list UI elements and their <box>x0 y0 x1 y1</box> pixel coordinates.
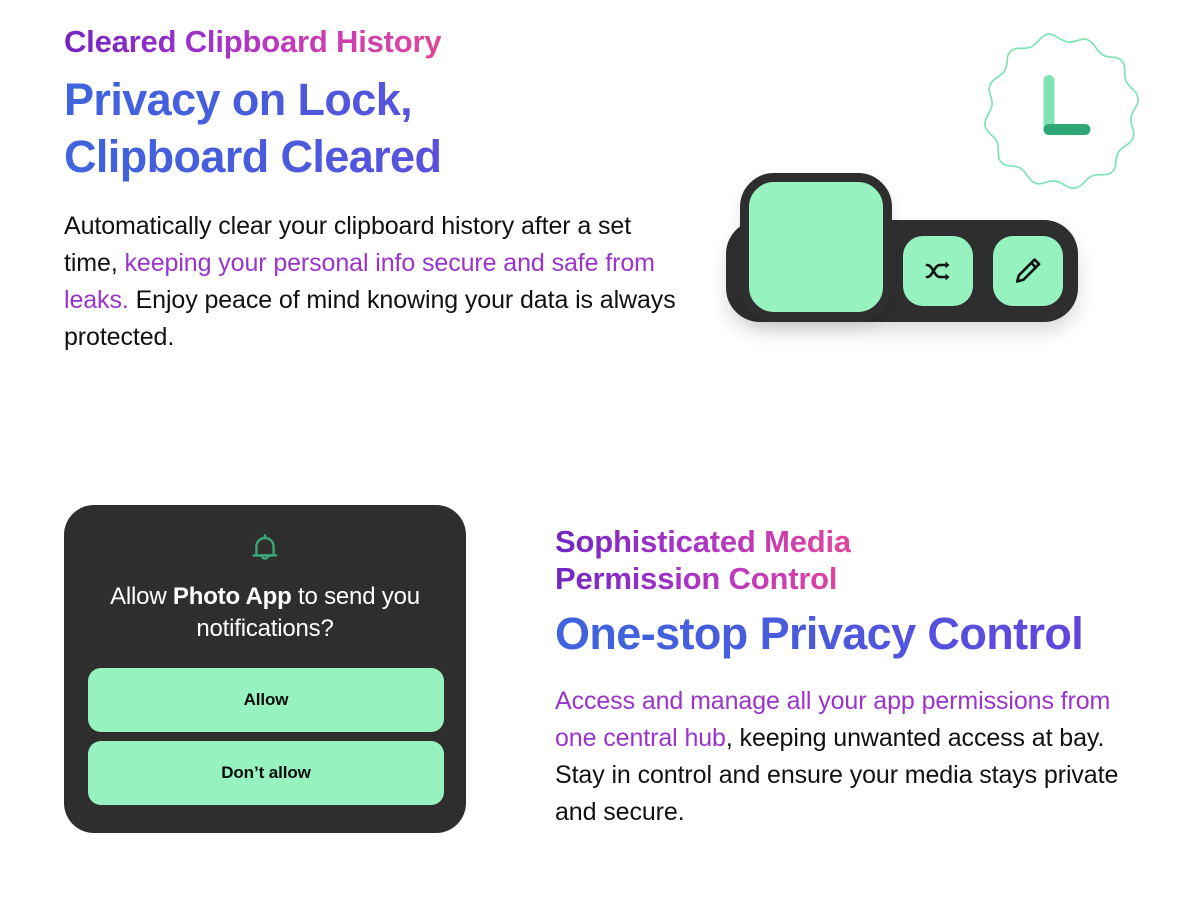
dialog-title: Allow Photo App to send you notification… <box>98 581 432 644</box>
bell-icon <box>248 531 282 567</box>
dialog-title-prefix: Allow <box>110 583 173 610</box>
dialog-bell-wrap <box>88 531 442 567</box>
section-one-body: Automatically clear your clipboard histo… <box>64 208 684 356</box>
clipboard-preview-tile <box>740 173 892 321</box>
page-root: Cleared Clipboard History Privacy on Loc… <box>0 0 1200 897</box>
section-two-text: Sophisticated Media Permission Control O… <box>555 524 1155 831</box>
notification-permission-dialog: Allow Photo App to send you notification… <box>64 505 466 833</box>
section-one-eyebrow: Cleared Clipboard History <box>64 24 441 61</box>
clock-badge <box>948 28 1148 228</box>
shuffle-icon <box>921 254 955 288</box>
section-two-eyebrow: Sophisticated Media Permission Control <box>555 524 851 597</box>
section-one-text: Cleared Clipboard History Privacy on Loc… <box>64 24 684 356</box>
section-one-headline: Privacy on Lock, Clipboard Cleared <box>64 71 441 186</box>
edit-tile-button[interactable] <box>993 236 1063 306</box>
shuffle-arrow-top-icon <box>946 262 950 269</box>
clock-hands-icon <box>1044 75 1091 135</box>
clipboard-illustration <box>700 20 1170 380</box>
dialog-title-app: Photo App <box>173 583 292 610</box>
pencil-icon <box>1011 254 1045 288</box>
shuffle-arrow-bottom-icon <box>946 274 950 281</box>
section-two-body: Access and manage all your app permissio… <box>555 683 1155 831</box>
allow-button[interactable]: Allow <box>88 668 444 732</box>
shuffle-tile-button[interactable] <box>903 236 973 306</box>
section-two-headline: One-stop Privacy Control <box>555 605 1083 663</box>
section-one-body-tail: Enjoy peace of mind knowing your data is… <box>64 286 676 351</box>
scalloped-circle <box>985 34 1138 188</box>
dont-allow-button[interactable]: Don’t allow <box>88 741 444 805</box>
